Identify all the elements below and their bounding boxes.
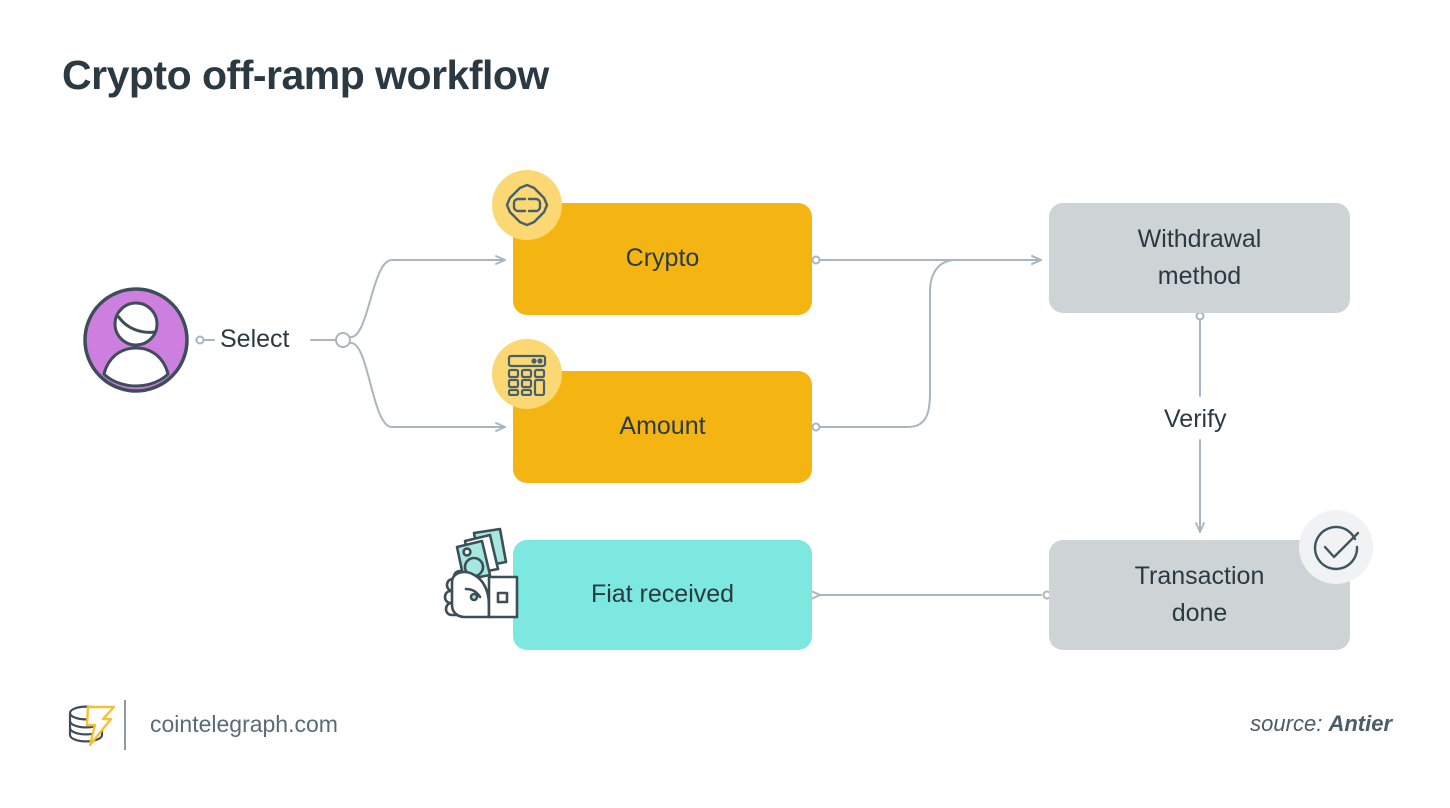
avatar-anchor-dot	[197, 337, 204, 344]
transaction-done-badge	[1299, 510, 1373, 584]
edge-label-select: Select	[220, 325, 289, 354]
footer-site-label: cointelegraph.com	[150, 711, 338, 738]
crypto-coin-badge	[492, 170, 562, 240]
node-transaction-line1: Transaction	[1135, 562, 1265, 590]
node-withdrawal-line1: Withdrawal	[1138, 225, 1262, 253]
cash-in-hand-icon	[443, 527, 535, 627]
page-title: Crypto off-ramp workflow	[62, 52, 549, 99]
amount-anchor-dot	[813, 424, 820, 431]
crypto-coin-icon	[503, 181, 551, 229]
edge-label-verify: Verify	[1164, 405, 1227, 434]
footer-divider	[124, 700, 126, 750]
footer-source: source: Antier	[1250, 711, 1392, 737]
user-avatar-icon	[82, 286, 190, 394]
cointelegraph-logo	[62, 697, 118, 753]
check-circle-icon	[1310, 521, 1362, 573]
footer-source-name: Antier	[1328, 711, 1392, 736]
withdrawal-anchor-dot	[1197, 313, 1204, 320]
node-transaction-line2: done	[1172, 599, 1228, 627]
node-withdrawal-method-label: Withdrawal method	[1138, 221, 1262, 296]
split-node-dot	[336, 333, 350, 347]
footer-source-prefix: source:	[1250, 711, 1328, 736]
calculator-icon	[505, 352, 549, 396]
edge-amount-to-withdrawal	[818, 260, 1041, 427]
node-transaction-done-label: Transaction done	[1135, 558, 1265, 633]
node-crypto-label: Crypto	[626, 240, 700, 278]
diagram-canvas: Crypto off-ramp workflow	[0, 0, 1450, 808]
amount-calculator-badge	[492, 339, 562, 409]
edge-split-to-crypto	[351, 260, 505, 337]
node-withdrawal-method[interactable]: Withdrawal method	[1049, 203, 1350, 313]
node-amount-label: Amount	[619, 408, 705, 446]
crypto-anchor-dot	[813, 257, 820, 264]
node-fiat-received-label: Fiat received	[591, 576, 734, 614]
edge-split-to-amount	[351, 343, 505, 427]
node-withdrawal-line2: method	[1158, 262, 1241, 290]
node-fiat-received[interactable]: Fiat received	[513, 540, 812, 650]
